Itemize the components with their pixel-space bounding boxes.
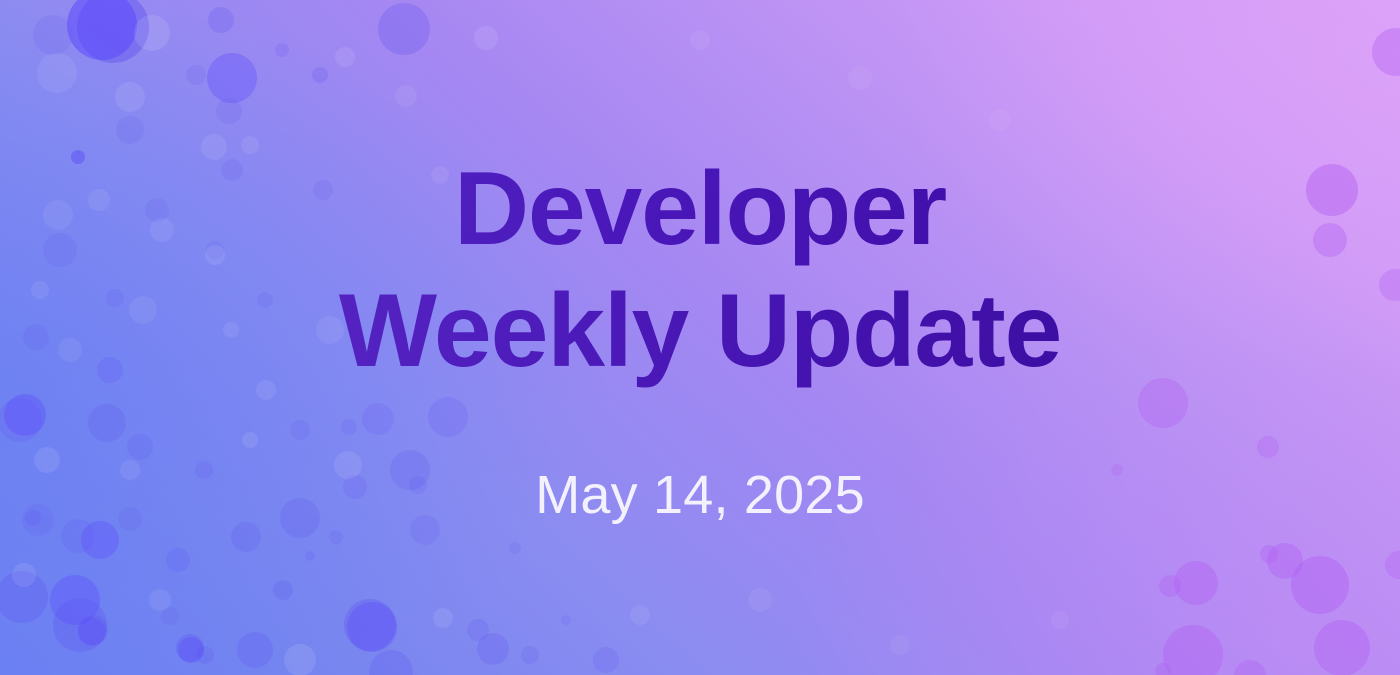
title-block: Developer Weekly Update May 14, 2025	[0, 149, 1400, 526]
slide-canvas: Developer Weekly Update May 14, 2025	[0, 0, 1400, 675]
slide-content: Developer Weekly Update May 14, 2025	[0, 0, 1400, 675]
slide-date: May 14, 2025	[0, 466, 1400, 525]
page-title-line-2: Weekly Update	[0, 271, 1400, 393]
page-title-line-1: Developer	[0, 149, 1400, 271]
